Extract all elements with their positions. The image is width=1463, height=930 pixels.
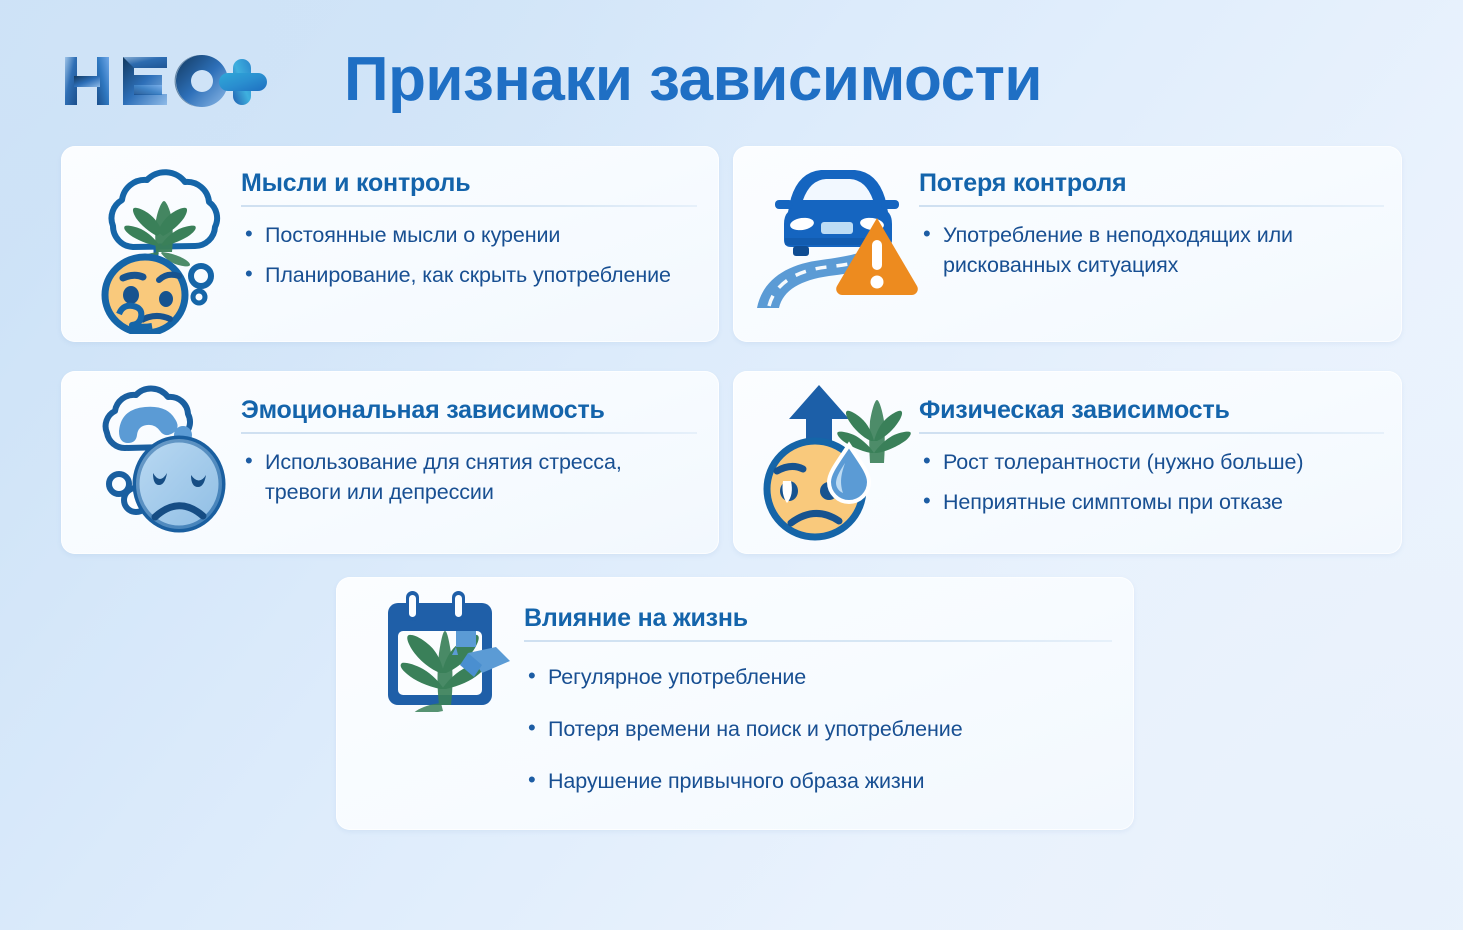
list-item: Рост толерантности (нужно больше) — [919, 447, 1384, 477]
card-body: Эмоциональная зависимость Использование … — [241, 395, 697, 507]
card-body: Потеря контроля Употребление в неподходя… — [919, 168, 1384, 280]
card-emotional-dependence: Эмоциональная зависимость Использование … — [61, 371, 719, 554]
car-on-winding-road-with-warning-triangle-icon — [755, 160, 920, 310]
list-item: Потеря времени на поиск и употребление — [524, 714, 1112, 744]
sweating-face-with-up-arrow-and-cannabis-leaf-icon — [757, 379, 915, 544]
title-divider — [241, 205, 697, 207]
bullet-list: Употребление в неподходящих или рискован… — [919, 220, 1384, 280]
thinking-face-with-thought-cloud-cannabis-leaf-icon — [83, 164, 238, 334]
card-title: Влияние на жизнь — [524, 603, 1112, 633]
list-item: Неприятные симптомы при отказе — [919, 487, 1384, 517]
bullet-list: Регулярное употребление Потеря времени н… — [524, 662, 1112, 796]
bullet-list: Постоянные мысли о курении Планирование,… — [241, 220, 697, 290]
title-divider — [524, 640, 1112, 642]
sad-blue-face-with-thought-cloud-icon — [91, 381, 241, 536]
card-body: Влияние на жизнь Регулярное употребление… — [524, 603, 1112, 818]
bullet-list: Рост толерантности (нужно больше) Неприя… — [919, 447, 1384, 517]
card-thoughts-and-control: Мысли и контроль Постоянные мысли о куре… — [61, 146, 719, 342]
list-item: Употребление в неподходящих или рискован… — [919, 220, 1384, 280]
title-divider — [241, 432, 697, 434]
title-divider — [919, 432, 1384, 434]
card-body: Физическая зависимость Рост толерантност… — [919, 395, 1384, 517]
card-body: Мысли и контроль Постоянные мысли о куре… — [241, 168, 697, 290]
card-title: Потеря контроля — [919, 168, 1384, 198]
calendar-with-cannabis-leaf-icon — [374, 587, 519, 712]
neo-plus-logo — [61, 45, 281, 113]
list-item: Постоянные мысли о курении — [241, 220, 697, 250]
list-item: Использование для снятия стресса, тревог… — [241, 447, 697, 507]
list-item: Планирование, как скрыть употребление — [241, 260, 697, 290]
card-physical-dependence: Физическая зависимость Рост толерантност… — [733, 371, 1402, 554]
title-divider — [919, 205, 1384, 207]
card-impact-on-life: Влияние на жизнь Регулярное употребление… — [336, 577, 1134, 830]
card-title: Эмоциональная зависимость — [241, 395, 697, 425]
card-title: Мысли и контроль — [241, 168, 697, 198]
card-title: Физическая зависимость — [919, 395, 1384, 425]
card-loss-of-control: Потеря контроля Употребление в неподходя… — [733, 146, 1402, 342]
list-item: Регулярное употребление — [524, 662, 1112, 692]
page-title: Признаки зависимости — [344, 40, 1124, 120]
infographic-canvas: Признаки зависимости — [0, 0, 1463, 930]
bullet-list: Использование для снятия стресса, тревог… — [241, 447, 697, 507]
list-item: Нарушение привычного образа жизни — [524, 766, 1112, 796]
